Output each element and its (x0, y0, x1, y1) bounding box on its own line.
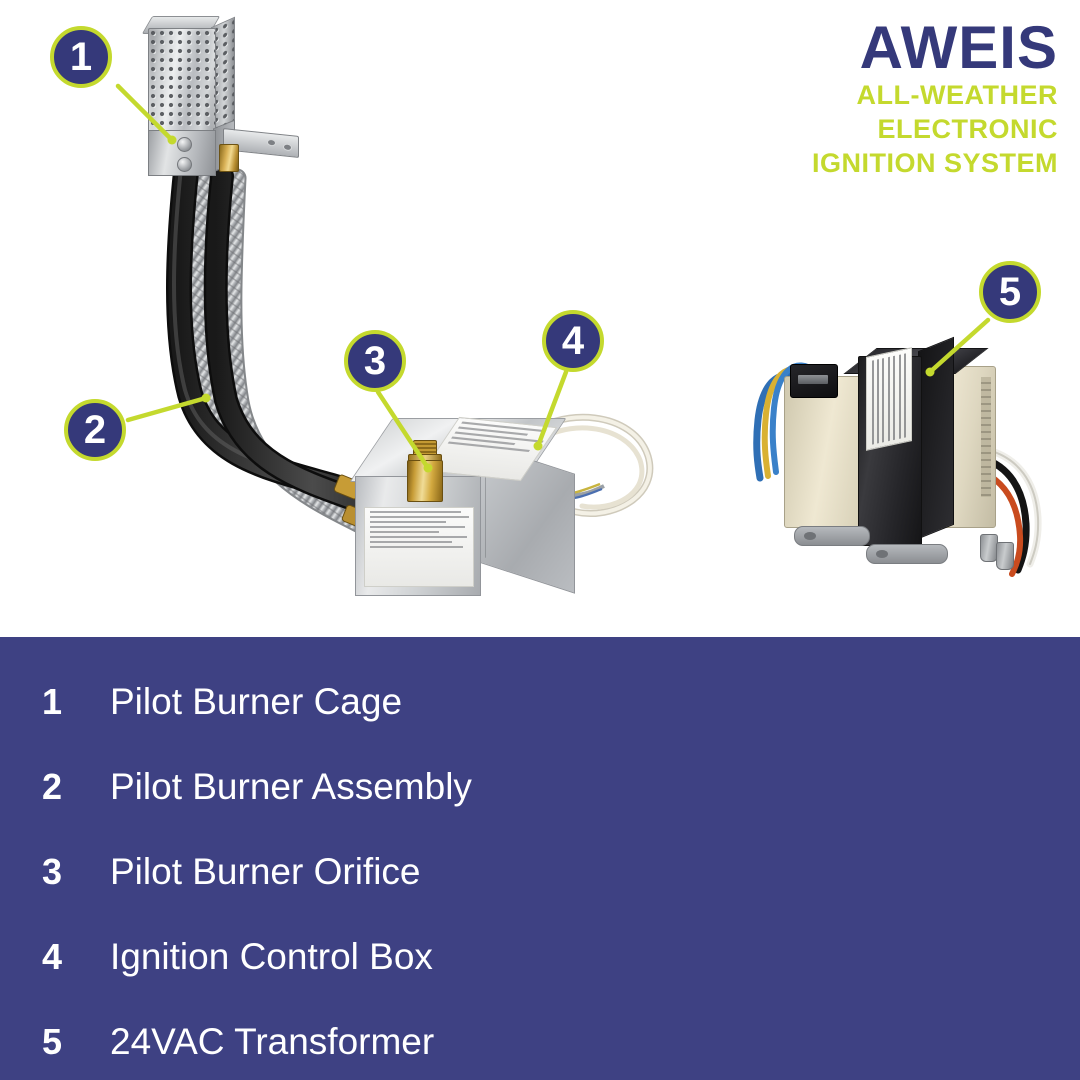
legend-label-3: Pilot Burner Orifice (110, 851, 421, 893)
legend-number-1: 1 (42, 681, 110, 723)
callout-badge-4[interactable]: 4 (542, 310, 604, 372)
callout-badge-2[interactable]: 2 (64, 399, 126, 461)
legend-row-5: 5 24VAC Transformer (42, 1013, 434, 1071)
leader-dot-3 (424, 464, 433, 473)
product-photo-area: AWEIS ALL-WEATHER ELECTRONIC IGNITION SY… (0, 0, 1080, 637)
legend-number-4: 4 (42, 936, 110, 978)
leader-line-1 (118, 86, 172, 140)
leader-dot-5 (926, 368, 935, 377)
leader-dot-1 (168, 136, 177, 145)
legend-row-4: 4 Ignition Control Box (42, 928, 433, 986)
legend-label-1: Pilot Burner Cage (110, 681, 402, 723)
callout-badge-3[interactable]: 3 (344, 330, 406, 392)
legend-number-5: 5 (42, 1021, 110, 1063)
callout-badge-1[interactable]: 1 (50, 26, 112, 88)
legend-row-1: 1 Pilot Burner Cage (42, 673, 402, 731)
leader-dot-4 (534, 442, 543, 451)
leader-dot-2 (202, 394, 211, 403)
legend-label-5: 24VAC Transformer (110, 1021, 434, 1063)
legend-number-2: 2 (42, 766, 110, 808)
legend-row-3: 3 Pilot Burner Orifice (42, 843, 421, 901)
leader-line-4 (538, 372, 566, 446)
leader-line-5 (930, 320, 988, 372)
leader-line-2 (128, 398, 206, 420)
legend-row-2: 2 Pilot Burner Assembly (42, 758, 472, 816)
product-parts-diagram: AWEIS ALL-WEATHER ELECTRONIC IGNITION SY… (0, 0, 1080, 1080)
legend-panel: 1 Pilot Burner Cage 2 Pilot Burner Assem… (0, 637, 1080, 1080)
legend-number-3: 3 (42, 851, 110, 893)
legend-label-4: Ignition Control Box (110, 936, 433, 978)
leader-line-3 (378, 392, 428, 468)
legend-label-2: Pilot Burner Assembly (110, 766, 472, 808)
callout-leader-lines (0, 0, 1080, 637)
callout-badge-5[interactable]: 5 (979, 261, 1041, 323)
